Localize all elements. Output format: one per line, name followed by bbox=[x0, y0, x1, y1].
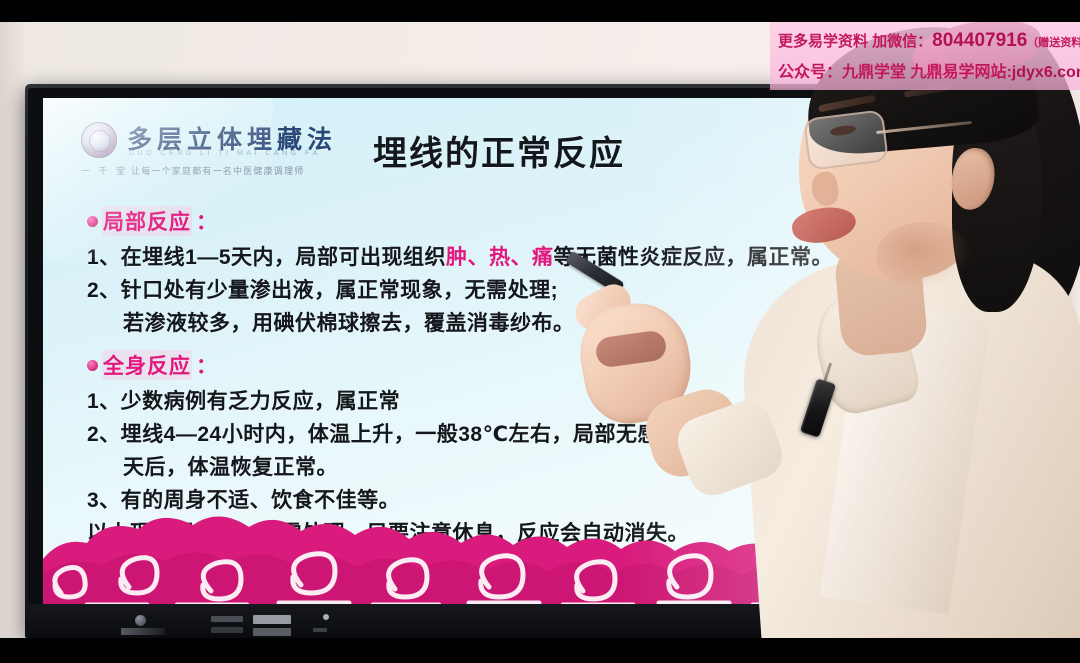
section-heading-text: 全身反应 bbox=[102, 350, 192, 380]
bullet-icon bbox=[87, 360, 98, 371]
line-emphasis-text: 肿、热、痛 bbox=[446, 246, 554, 269]
slide-title: 埋线的正常反应 bbox=[373, 126, 625, 175]
glasses-lens-icon bbox=[803, 109, 889, 170]
watermark-overlay: 更多易学资料 加微信： 804407916 （赠送资料） 公众号： 九鼎学堂 九… bbox=[770, 22, 1080, 90]
letterbox-top-bar bbox=[0, 0, 1080, 22]
watermark-line-1: 更多易学资料 加微信： 804407916 （赠送资料） bbox=[778, 30, 1074, 52]
tv-power-led-icon bbox=[323, 614, 329, 620]
watermark-website: jdyx6.com bbox=[1012, 64, 1080, 82]
tv-led-label bbox=[313, 628, 327, 632]
line-text: 若渗液较多，用碘伏棉球擦去，覆盖消毒纱布。 bbox=[123, 312, 575, 335]
bullet-icon bbox=[87, 216, 98, 227]
wall-shadow bbox=[0, 22, 26, 638]
line-text: 2、针口处有少量渗出液，属正常现象，无需处理; bbox=[87, 279, 558, 302]
slide-logo: 多层立体埋藏法 DUO CENG LI TI MAI CANG FA 一 千 堂… bbox=[81, 120, 381, 182]
tv-brand-logo-icon bbox=[135, 615, 146, 626]
tv-port-icon-4 bbox=[253, 628, 291, 636]
logo-subtitle-left: 一 千 堂 bbox=[81, 164, 128, 177]
line-text: 天后，体温恢复正常。 bbox=[123, 456, 338, 479]
watermark-gift-note: （赠送资料） bbox=[1027, 34, 1080, 50]
tv-port-icon-3 bbox=[253, 615, 291, 624]
section-heading-text: 局部反应 bbox=[102, 206, 192, 236]
line-text: 1、在埋线1—5天内，局部可出现组织 bbox=[87, 246, 446, 269]
line-text: 1、少数病例有乏力反应，属正常 bbox=[87, 390, 400, 413]
letterbox-bottom-bar bbox=[0, 638, 1080, 663]
tv-brand-text bbox=[121, 628, 165, 635]
logo-pinyin: DUO CENG LI TI MAI CANG FA bbox=[129, 150, 321, 157]
tv-port-icon-2 bbox=[211, 627, 243, 633]
watermark-official-account-label: 公众号： bbox=[778, 58, 842, 82]
watermark-line-2: 公众号： 九鼎学堂 九鼎易学网站: jdyx6.com bbox=[778, 58, 1074, 82]
seal-icon bbox=[81, 122, 117, 158]
section-heading-colon: ： bbox=[196, 350, 218, 380]
logo-subtitle-right: 让每一个家庭都有一名中医健康调理师 bbox=[131, 164, 304, 177]
watermark-wechat-id: 804407916 bbox=[932, 30, 1027, 52]
watermark-wechat-label: 更多易学资料 加微信： bbox=[778, 30, 932, 51]
video-frame: 多层立体埋藏法 DUO CENG LI TI MAI CANG FA 一 千 堂… bbox=[0, 0, 1080, 663]
tv-port-icon-1 bbox=[211, 616, 243, 622]
watermark-account-name: 九鼎学堂 九鼎易学网站: bbox=[842, 58, 1012, 82]
section-heading-colon: ： bbox=[196, 206, 218, 236]
presenter-jaw-shadow bbox=[876, 222, 972, 290]
presenter-hand bbox=[560, 262, 770, 472]
